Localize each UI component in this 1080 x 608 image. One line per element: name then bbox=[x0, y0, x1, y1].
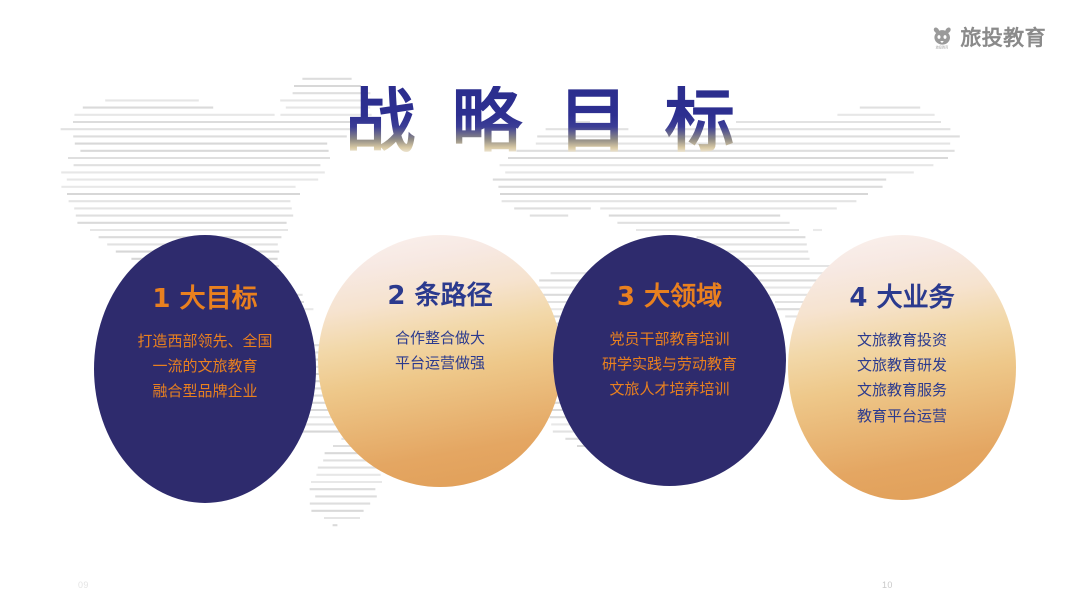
pillar-line: 研学实践与劳动教育 bbox=[602, 352, 737, 377]
pillar-content-4: 4 大业务 文旅教育投资 文旅教育研发 文旅教育服务 教育平台运营 bbox=[788, 235, 1016, 429]
page-number-right: 10 bbox=[882, 580, 893, 590]
pillar-line: 党员干部教育培训 bbox=[602, 327, 737, 352]
pillar-heading-2: 2 条路径 bbox=[387, 283, 492, 309]
pillar-heading-3: 3 大领域 bbox=[617, 284, 722, 310]
pillar-line: 文旅教育服务 bbox=[857, 378, 947, 403]
pillar-circle-3[interactable]: 3 大领域 党员干部教育培训 研学实践与劳动教育 文旅人才培养培训 bbox=[553, 235, 786, 486]
pillar-line: 文旅教育研发 bbox=[857, 353, 947, 378]
pillar-body-1: 打造西部领先、全国 一流的文旅教育 融合型品牌企业 bbox=[137, 329, 272, 405]
brand-logo: 旅投教育 旅投教育 bbox=[931, 26, 1046, 50]
pillar-body-2: 合作整合做大 平台运营做强 bbox=[395, 326, 485, 376]
pillar-circle-2[interactable]: 2 条路径 合作整合做大 平台运营做强 bbox=[318, 235, 562, 487]
pillar-line: 融合型品牌企业 bbox=[137, 379, 272, 404]
pillar-line: 教育平台运营 bbox=[857, 404, 947, 429]
page-number-left: 09 bbox=[78, 580, 89, 590]
page-title-text: 战略目标 bbox=[309, 86, 771, 156]
pillar-body-4: 文旅教育投资 文旅教育研发 文旅教育服务 教育平台运营 bbox=[857, 328, 947, 429]
pillar-line: 一流的文旅教育 bbox=[137, 354, 272, 379]
pillar-line: 平台运营做强 bbox=[395, 351, 485, 376]
pillar-content-2: 2 条路径 合作整合做大 平台运营做强 bbox=[318, 235, 562, 376]
pillar-circle-1[interactable]: 1 大目标 打造西部领先、全国 一流的文旅教育 融合型品牌企业 bbox=[94, 235, 316, 503]
brand-logo-text: 旅投教育 bbox=[960, 28, 1046, 49]
page-title: 战略目标 bbox=[0, 78, 1080, 164]
pillar-content-3: 3 大领域 党员干部教育培训 研学实践与劳动教育 文旅人才培养培训 bbox=[553, 235, 786, 403]
pillar-line: 合作整合做大 bbox=[395, 326, 485, 351]
svg-text:旅投教育: 旅投教育 bbox=[936, 45, 949, 50]
pillar-heading-1: 1 大目标 bbox=[152, 286, 257, 312]
pillar-line: 文旅人才培养培训 bbox=[602, 377, 737, 402]
slide-canvas: 战略目标 旅投教育 旅投教育 1 大目标 打造西部领先、全国 一流的文旅教育 融… bbox=[0, 0, 1080, 608]
pillar-content-1: 1 大目标 打造西部领先、全国 一流的文旅教育 融合型品牌企业 bbox=[94, 235, 316, 405]
pillar-heading-4: 4 大业务 bbox=[849, 285, 954, 311]
panda-icon: 旅投教育 bbox=[931, 26, 953, 50]
pillar-line: 打造西部领先、全国 bbox=[137, 329, 272, 354]
pillar-circle-4[interactable]: 4 大业务 文旅教育投资 文旅教育研发 文旅教育服务 教育平台运营 bbox=[788, 235, 1016, 500]
pillar-line: 文旅教育投资 bbox=[857, 328, 947, 353]
pillar-body-3: 党员干部教育培训 研学实践与劳动教育 文旅人才培养培训 bbox=[602, 327, 737, 403]
